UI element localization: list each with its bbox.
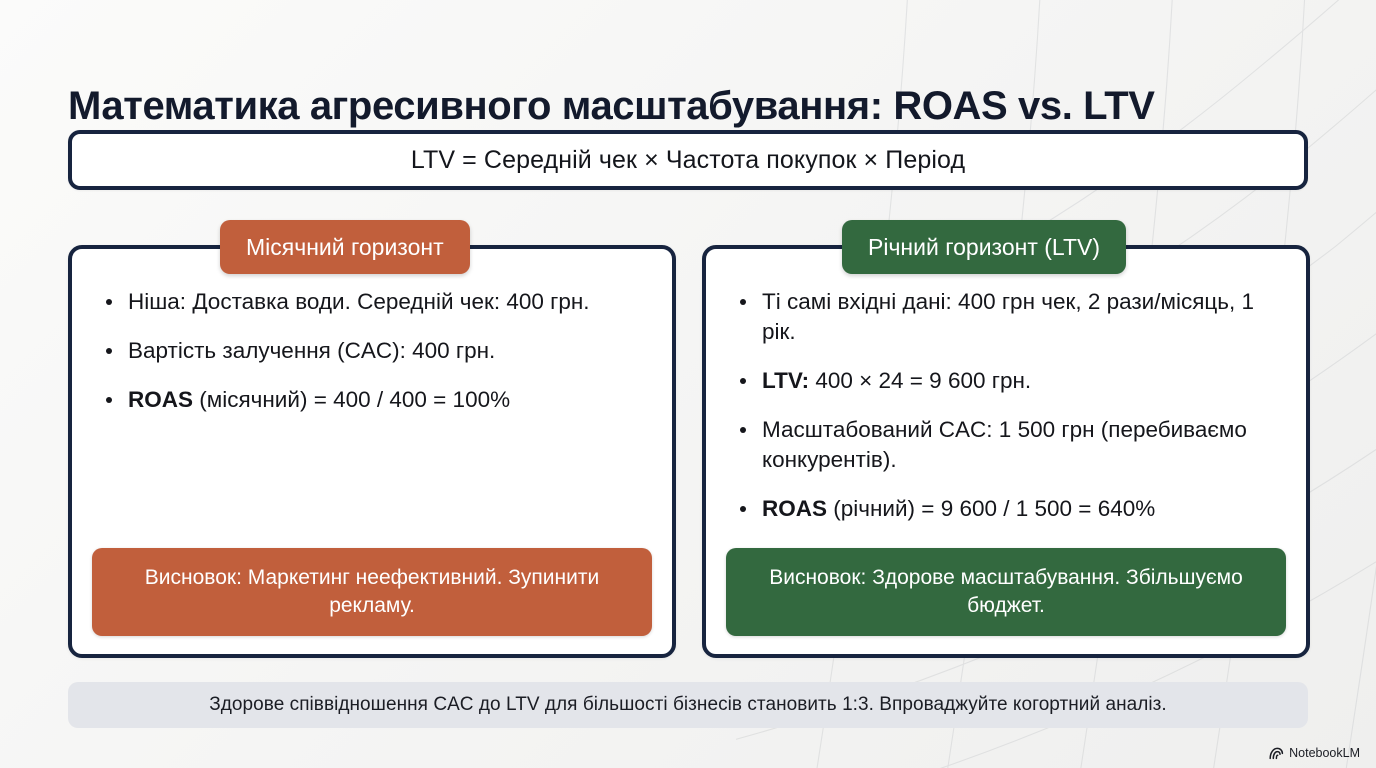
bullet-lead: ROAS: [762, 496, 827, 521]
notebooklm-label: NotebookLM: [1289, 746, 1360, 760]
bullet-list-yearly: Ті самі вхідні дані: 400 грн чек, 2 рази…: [706, 249, 1306, 524]
ltv-formula-box: LTV = Середній чек × Частота покупок × П…: [68, 130, 1308, 190]
conclusion-monthly: Висновок: Маркетинг неефективний. Зупини…: [92, 548, 652, 636]
card-yearly-horizon: Річний горизонт (LTV) Ті самі вхідні дан…: [702, 245, 1310, 658]
bullet-text: (річний) = 9 600 / 1 500 = 640%: [827, 496, 1155, 521]
bullet-lead: ROAS: [128, 387, 193, 412]
list-item: ROAS (річний) = 9 600 / 1 500 = 640%: [736, 494, 1280, 524]
slide-stage: Математика агресивного масштабування: RO…: [0, 0, 1376, 768]
bullet-lead: LTV:: [762, 368, 809, 393]
list-item: Ніша: Доставка води. Середній чек: 400 г…: [102, 287, 646, 317]
notebooklm-logo-icon: [1269, 747, 1284, 760]
footer-note-text: Здорове співвідношення CAC до LTV для бі…: [209, 694, 1166, 716]
page-title: Математика агресивного масштабування: RO…: [68, 83, 1308, 129]
bullet-text: Вартість залучення (CAC): 400 грн.: [128, 338, 495, 363]
list-item: Масштабований CAC: 1 500 грн (перебиваєм…: [736, 415, 1280, 475]
bullet-text: Масштабований CAC: 1 500 грн (перебиваєм…: [762, 417, 1247, 472]
bullet-text: Ніша: Доставка води. Середній чек: 400 г…: [128, 289, 590, 314]
list-item: Ті самі вхідні дані: 400 грн чек, 2 рази…: [736, 287, 1280, 347]
ltv-formula-text: LTV = Середній чек × Частота покупок × П…: [411, 146, 965, 175]
footer-note: Здорове співвідношення CAC до LTV для бі…: [68, 682, 1308, 728]
bullet-text: 400 × 24 = 9 600 грн.: [809, 368, 1031, 393]
list-item: ROAS (місячний) = 400 / 400 = 100%: [102, 385, 646, 415]
notebooklm-watermark: NotebookLM: [1269, 746, 1360, 760]
list-item: LTV: 400 × 24 = 9 600 грн.: [736, 366, 1280, 396]
conclusion-yearly: Висновок: Здорове масштабування. Збільшу…: [726, 548, 1286, 636]
list-item: Вартість залучення (CAC): 400 грн.: [102, 336, 646, 366]
badge-monthly-horizon: Місячний горизонт: [220, 220, 470, 274]
bullet-text: (місячний) = 400 / 400 = 100%: [193, 387, 510, 412]
card-monthly-horizon: Місячний горизонт Ніша: Доставка води. С…: [68, 245, 676, 658]
badge-yearly-horizon: Річний горизонт (LTV): [842, 220, 1126, 274]
bullet-text: Ті самі вхідні дані: 400 грн чек, 2 рази…: [762, 289, 1254, 344]
